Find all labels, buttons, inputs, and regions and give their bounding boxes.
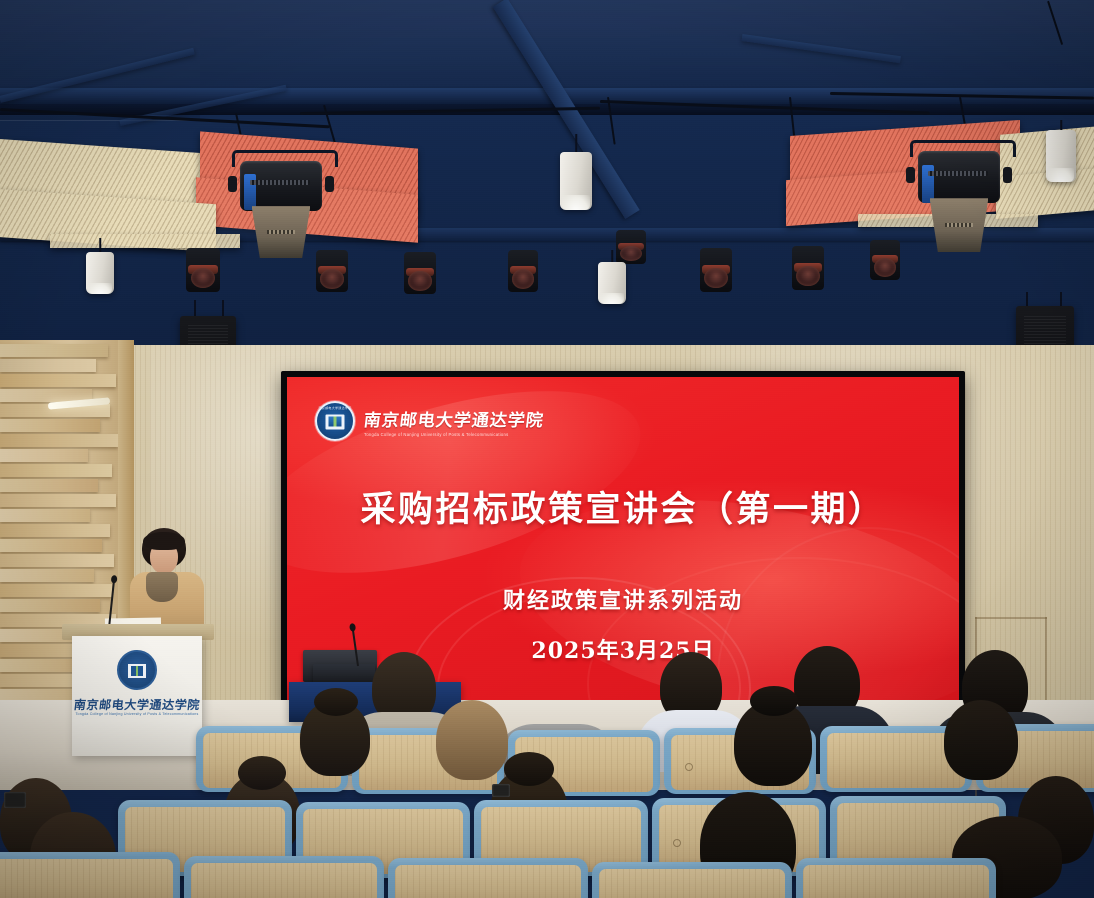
podium: 南京邮电大学通达学院 Tongda College of Nanjing Uni… [72,636,202,756]
podium-sign-name-cn: 南京邮电大学通达学院 [71,696,203,713]
audience-seat[interactable] [592,862,792,898]
attendee-head [436,700,508,780]
par-can-light [186,248,220,292]
screen-title: 采购招标政策宣讲会（第一期） [287,481,959,532]
audience-seat[interactable] [388,858,588,898]
pendant-cylinder-light [598,250,626,304]
attendee-hair-bun [314,688,358,716]
emblem-ring-text: 南京邮电大学通达学院 [318,406,351,410]
hair-clip [492,784,510,797]
emblem-book-icon [326,414,345,429]
par-can-light [870,240,900,280]
pendant-cylinder-light [86,238,114,294]
podium-emblem-icon [117,650,157,690]
attendee-hair-bun [504,752,554,786]
attendee-hair-bun [750,686,798,716]
audience-seat[interactable] [0,852,180,898]
audience-seat[interactable] [796,858,996,898]
screen-university-logo: 南京邮电大学通达学院 南京邮电大学通达学院 Tongda College of … [315,401,544,441]
moving-head-light [232,150,330,258]
pendant-cylinder-light [560,134,592,210]
par-can-light [792,246,824,290]
hair-clip [4,792,26,808]
screen-subtitle: 财经政策宣讲系列活动 [287,583,959,615]
par-can-light [316,250,348,292]
screen-logo-name-cn: 南京邮电大学通达学院 [362,406,545,431]
podium-sign-name-en: Tongda College of Nanjing University of … [72,712,202,716]
ceiling [0,0,1094,372]
par-can-light [508,250,538,292]
screen-logo-name-en: Tongda College of Nanjing University of … [364,431,544,437]
moving-head-light [910,140,1008,252]
attendee-head [944,700,1018,780]
par-can-light [404,252,436,294]
audience-seat[interactable] [184,856,384,898]
university-emblem-icon: 南京邮电大学通达学院 [315,401,355,441]
pendant-cylinder-light [1046,120,1076,182]
attendee-hair-bun [238,756,286,790]
par-can-light [700,248,732,292]
conference-photo: 南京邮电大学通达学院 南京邮电大学通达学院 Tongda College of … [0,0,1094,898]
led-screen: 南京邮电大学通达学院 南京邮电大学通达学院 Tongda College of … [287,377,959,703]
